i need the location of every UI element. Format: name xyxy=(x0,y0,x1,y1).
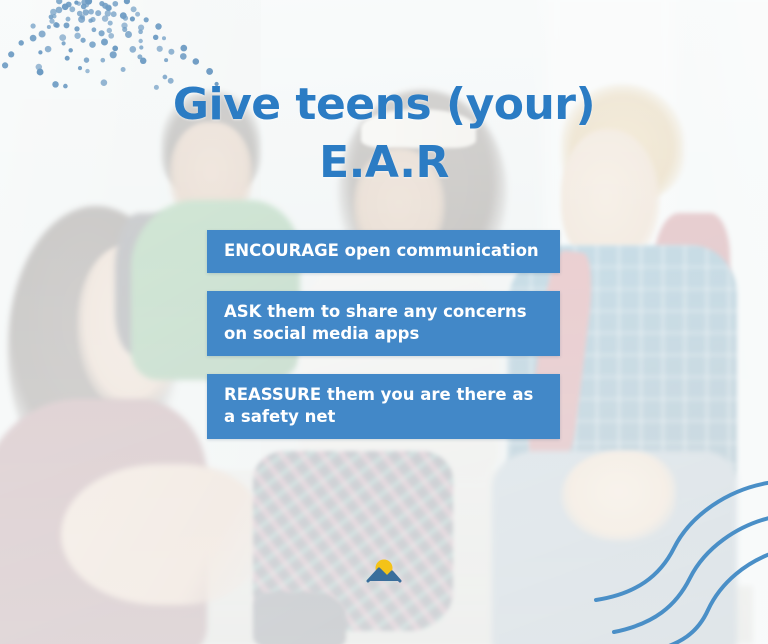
tip-bar-ask: ASK them to share any concerns on social… xyxy=(207,291,560,356)
tip-bar-encourage: ENCOURAGE open communication xyxy=(207,230,560,273)
tips-list: ENCOURAGE open communication ASK them to… xyxy=(207,230,560,439)
poster-canvas: Give teens (your) E.A.R ENCOURAGE open c… xyxy=(0,0,768,644)
page-title: Give teens (your) E.A.R xyxy=(0,76,768,192)
poster-content: Give teens (your) E.A.R ENCOURAGE open c… xyxy=(0,0,768,644)
sun-and-mountain-logo xyxy=(361,552,407,586)
tip-bar-reassure: REASSURE them you are there as a safety … xyxy=(207,374,560,439)
